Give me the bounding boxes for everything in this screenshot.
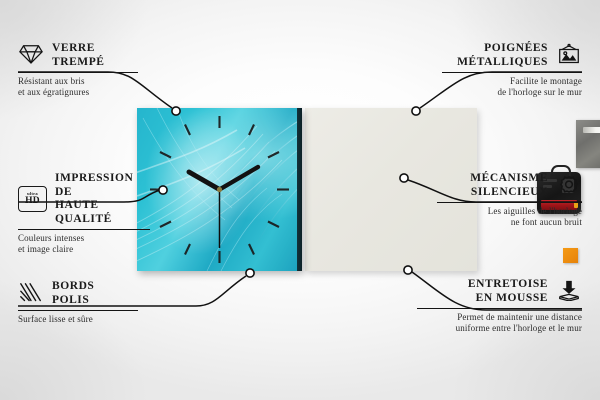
title-line-1: VERRE: [52, 42, 105, 56]
title-line-1: ENTRETOISE: [468, 278, 548, 292]
feature-title: VERRE TREMPÉ: [52, 42, 105, 69]
feature-poignees-metalliques: POIGNÉES MÉTALLIQUES Facilite le montage…: [442, 42, 582, 98]
feature-header: MÉCANISME SILENCIEUX: [437, 172, 582, 199]
feature-header: ENTRETOISE EN MOUSSE: [417, 278, 582, 305]
subtitle-line-1: Permet de maintenir une distance: [417, 312, 582, 323]
feature-header: BORDS POLIS: [18, 280, 138, 307]
feature-mecanisme-silencieux: MÉCANISME SILENCIEUX Les aiguilles de l'…: [437, 172, 582, 228]
feature-title: ENTRETOISE EN MOUSSE: [468, 278, 548, 305]
hd-icon-main-text: HD: [25, 196, 40, 206]
feature-header: ultra HD IMPRESSION DE HAUTE QUALITÉ: [18, 172, 150, 226]
metal-hanger-plate: [576, 120, 600, 168]
title-line-2: MÉTALLIQUES: [457, 56, 548, 70]
subtitle-line-1: Couleurs intenses: [18, 233, 150, 244]
feature-title: BORDS POLIS: [52, 280, 94, 307]
feature-subtitle: Couleurs intenses et image claire: [18, 233, 150, 255]
title-line-2: HAUTE QUALITÉ: [55, 199, 150, 226]
diamond-icon: [18, 43, 44, 69]
infographic-root: VERRE TREMPÉ Résistant aux bris et aux é…: [0, 0, 600, 400]
feature-verre-trempe: VERRE TREMPÉ Résistant aux bris et aux é…: [18, 42, 138, 98]
clock-hands-and-ticks: [137, 108, 302, 271]
hour-hand: [189, 172, 220, 190]
product-image: [137, 108, 477, 273]
feature-header: VERRE TREMPÉ: [18, 42, 138, 69]
feature-bords-polis: BORDS POLIS Surface lisse et sûre: [18, 280, 138, 325]
foam-spacer-arrow-icon: [556, 279, 582, 305]
clock-face-panel: [137, 108, 302, 271]
minute-hand: [220, 167, 259, 190]
feature-subtitle: Les aiguilles de l'horloge ne font aucun…: [437, 206, 582, 228]
title-line-1: MÉCANISME: [470, 172, 548, 186]
feature-rule: [442, 72, 582, 73]
hanger-slot: [583, 127, 600, 133]
feature-subtitle: Surface lisse et sûre: [18, 314, 138, 325]
foam-spacer: [563, 248, 578, 263]
gear-icon: [556, 173, 582, 199]
feature-subtitle: Facilite le montage de l'horloge sur le …: [442, 76, 582, 98]
feature-rule: [18, 310, 138, 311]
clock-center-cap: [217, 187, 222, 192]
subtitle-line-1: Résistant aux bris: [18, 76, 138, 87]
feature-entretoise-en-mousse: ENTRETOISE EN MOUSSE Permet de maintenir…: [417, 278, 582, 334]
subtitle-line-2: ne font aucun bruit: [437, 217, 582, 228]
subtitle-line-2: et image claire: [18, 244, 150, 255]
subtitle-line-1: Les aiguilles de l'horloge: [437, 206, 582, 217]
title-line-1: IMPRESSION DE: [55, 172, 150, 199]
title-line-1: POIGNÉES: [457, 42, 548, 56]
subtitle-line-2: uniforme entre l'horloge et le mur: [417, 323, 582, 334]
feature-rule: [417, 308, 582, 309]
title-line-1: BORDS: [52, 280, 94, 294]
feature-rule: [437, 202, 582, 203]
feature-subtitle: Résistant aux bris et aux égratignures: [18, 76, 138, 98]
feature-title: MÉCANISME SILENCIEUX: [470, 172, 548, 199]
subtitle-line-1: Surface lisse et sûre: [18, 314, 138, 325]
feature-subtitle: Permet de maintenir une distance uniform…: [417, 312, 582, 334]
polished-edges-icon: [18, 281, 44, 307]
title-line-2: SILENCIEUX: [470, 186, 548, 200]
feature-impression-haute-qualite: ultra HD IMPRESSION DE HAUTE QUALITÉ Cou…: [18, 172, 150, 255]
title-line-2: EN MOUSSE: [468, 292, 548, 306]
feature-rule: [18, 72, 138, 73]
ultra-hd-icon: ultra HD: [18, 186, 47, 212]
feature-rule: [18, 229, 150, 230]
feature-title: POIGNÉES MÉTALLIQUES: [457, 42, 548, 69]
subtitle-line-2: de l'horloge sur le mur: [442, 87, 582, 98]
title-line-2: POLIS: [52, 294, 94, 308]
subtitle-line-2: et aux égratignures: [18, 87, 138, 98]
picture-frame-icon: [556, 43, 582, 69]
title-line-2: TREMPÉ: [52, 56, 105, 70]
feature-header: POIGNÉES MÉTALLIQUES: [442, 42, 582, 69]
feature-title: IMPRESSION DE HAUTE QUALITÉ: [55, 172, 150, 226]
subtitle-line-1: Facilite le montage: [442, 76, 582, 87]
